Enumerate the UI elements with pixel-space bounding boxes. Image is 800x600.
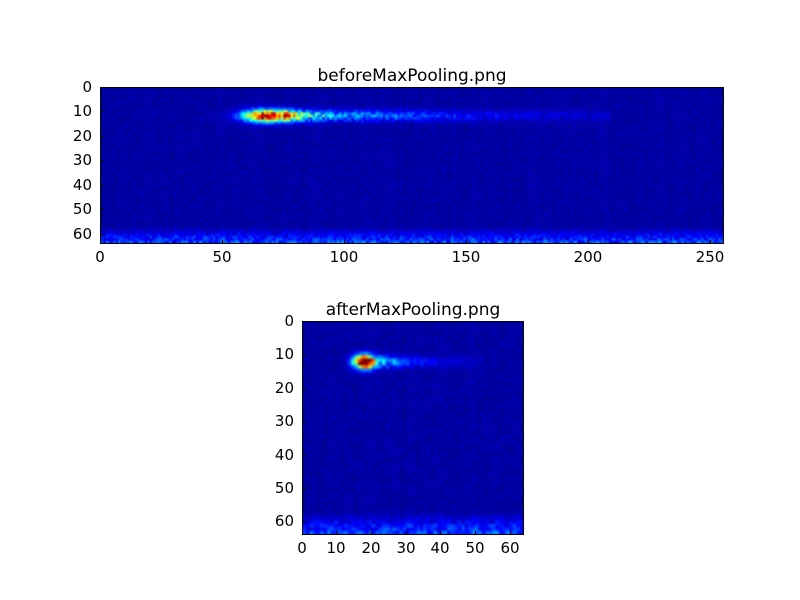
xtick-mark xyxy=(406,531,407,535)
ytick-label-after: 10 xyxy=(250,345,294,363)
ytick-label-after: 50 xyxy=(250,479,294,497)
chart-title-after: afterMaxPooling.png xyxy=(302,300,524,320)
heatmap-plot-after xyxy=(302,321,524,535)
ytick-label-after: 60 xyxy=(250,512,294,530)
xtick-mark xyxy=(466,240,467,244)
ytick-mark xyxy=(100,87,104,88)
xtick-label-before: 50 xyxy=(212,248,231,266)
xtick-mark xyxy=(510,531,511,535)
ytick-label-after: 30 xyxy=(250,412,294,430)
ytick-label-before: 0 xyxy=(48,78,92,96)
xtick-mark xyxy=(302,531,303,535)
ytick-mark xyxy=(100,160,104,161)
subplot-before-max-pooling: beforeMaxPooling.png 0 50 100 150 200 25… xyxy=(0,60,800,270)
xtick-mark xyxy=(222,240,223,244)
ytick-mark xyxy=(100,185,104,186)
ytick-label-before: 10 xyxy=(48,102,92,120)
xtick-label-before: 150 xyxy=(452,248,481,266)
xtick-mark xyxy=(344,240,345,244)
xtick-label-before: 0 xyxy=(95,248,105,266)
ytick-mark xyxy=(100,111,104,112)
heatmap-canvas-before xyxy=(101,88,723,243)
xtick-mark xyxy=(710,240,711,244)
ytick-label-before: 60 xyxy=(48,225,92,243)
xtick-label-before: 250 xyxy=(696,248,725,266)
ytick-label-before: 30 xyxy=(48,151,92,169)
ytick-mark xyxy=(302,488,306,489)
ytick-label-before: 20 xyxy=(48,127,92,145)
ytick-mark xyxy=(302,388,306,389)
heatmap-canvas-after xyxy=(303,322,523,534)
ytick-mark xyxy=(302,321,306,322)
ytick-mark xyxy=(100,234,104,235)
ytick-mark xyxy=(302,455,306,456)
heatmap-plot-before xyxy=(100,87,724,244)
ytick-label-before: 50 xyxy=(48,200,92,218)
ytick-mark xyxy=(100,136,104,137)
ytick-mark xyxy=(302,521,306,522)
chart-title-before: beforeMaxPooling.png xyxy=(100,66,724,86)
ytick-mark xyxy=(302,354,306,355)
xtick-label-after: 40 xyxy=(430,539,449,557)
xtick-mark xyxy=(475,531,476,535)
xtick-label-after: 0 xyxy=(297,539,307,557)
xtick-label-after: 50 xyxy=(465,539,484,557)
ytick-label-after: 0 xyxy=(250,312,294,330)
ytick-mark xyxy=(302,421,306,422)
ytick-label-after: 20 xyxy=(250,379,294,397)
xtick-mark xyxy=(588,240,589,244)
xtick-label-after: 60 xyxy=(500,539,519,557)
xtick-mark xyxy=(336,531,337,535)
ytick-label-before: 40 xyxy=(48,176,92,194)
ytick-label-after: 40 xyxy=(250,446,294,464)
ytick-mark xyxy=(100,209,104,210)
xtick-mark xyxy=(440,531,441,535)
xtick-label-before: 100 xyxy=(330,248,359,266)
matplotlib-figure: beforeMaxPooling.png 0 50 100 150 200 25… xyxy=(0,0,800,600)
subplot-after-max-pooling: afterMaxPooling.png 0 10 20 30 40 50 60 … xyxy=(0,294,800,564)
xtick-label-after: 30 xyxy=(396,539,415,557)
xtick-mark xyxy=(100,240,101,244)
xtick-label-after: 10 xyxy=(326,539,345,557)
xtick-label-after: 20 xyxy=(361,539,380,557)
xtick-label-before: 200 xyxy=(574,248,603,266)
xtick-mark xyxy=(371,531,372,535)
